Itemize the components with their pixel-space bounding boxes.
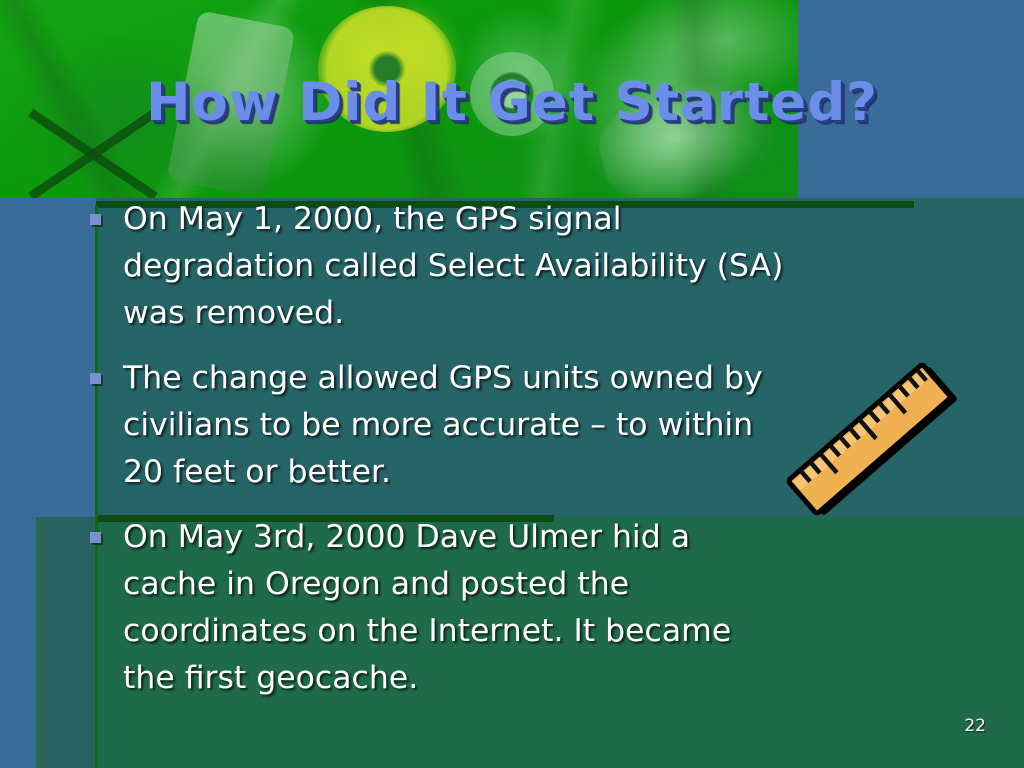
- bullet-item-1: On May 1, 2000, the GPS signal degradati…: [90, 196, 790, 337]
- content-panel-teal-strip: [36, 517, 96, 768]
- slide-body-bullet-list: On May 1, 2000, the GPS signal degradati…: [90, 196, 790, 720]
- bullet-item-2: The change allowed GPS units owned by ci…: [90, 355, 790, 496]
- slide-title: How Did It Get Started?: [0, 72, 1024, 133]
- presentation-slide: How Did It Get Started? On May 1, 2000, …: [0, 0, 1024, 768]
- bullet-text-1: On May 1, 2000, the GPS signal degradati…: [123, 196, 790, 337]
- bullet-item-3: On May 3rd, 2000 Dave Ulmer hid a cache …: [90, 514, 790, 702]
- square-bullet-icon: [90, 532, 101, 543]
- vertical-accent-rule-outer: [36, 519, 39, 768]
- square-bullet-icon: [90, 373, 101, 384]
- bullet-text-2: The change allowed GPS units owned by ci…: [123, 355, 790, 496]
- bullet-text-3: On May 3rd, 2000 Dave Ulmer hid a cache …: [123, 514, 790, 702]
- square-bullet-icon: [90, 214, 101, 225]
- slide-page-number: 22: [964, 716, 986, 736]
- wooden-ruler-icon: [778, 345, 968, 535]
